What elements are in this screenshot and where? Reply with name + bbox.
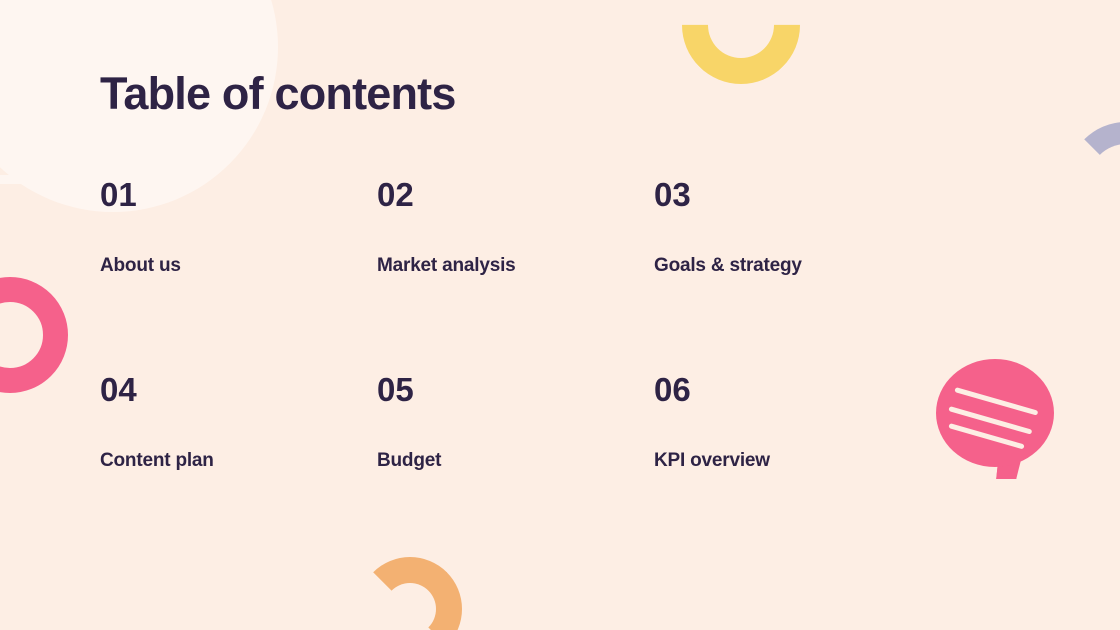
page-title: Table of contents (100, 68, 456, 120)
speech-bubble-tail (996, 445, 1025, 479)
lavender-arc-shape (1067, 122, 1120, 240)
toc-number-01: 01 (100, 178, 377, 211)
toc-item-03[interactable]: 03 Goals & strategy (654, 178, 931, 373)
streak-line-2 (0, 133, 176, 142)
presentation-slide: Table of contents 01 About us 02 Market … (0, 0, 1120, 630)
toc-item-01[interactable]: 01 About us (100, 178, 377, 373)
speech-bubble-line-1 (954, 387, 1038, 416)
toc-label-04: Content plan (100, 451, 377, 470)
toc-item-05[interactable]: 05 Budget (377, 373, 654, 470)
toc-label-06: KPI overview (654, 451, 931, 470)
toc-label-05: Budget (377, 451, 654, 470)
speech-bubble-line-2 (948, 406, 1032, 435)
toc-item-02[interactable]: 02 Market analysis (377, 178, 654, 373)
table-of-contents-grid: 01 About us 02 Market analysis 03 Goals … (100, 178, 960, 470)
toc-label-03: Goals & strategy (654, 256, 931, 275)
pink-ring-shape (0, 277, 68, 393)
toc-label-02: Market analysis (377, 256, 654, 275)
toc-number-05: 05 (377, 373, 654, 406)
toc-item-04[interactable]: 04 Content plan (100, 373, 377, 470)
toc-number-02: 02 (377, 178, 654, 211)
toc-number-04: 04 (100, 373, 377, 406)
toc-number-03: 03 (654, 178, 931, 211)
yellow-arc-shape (658, 0, 825, 108)
toc-item-06[interactable]: 06 KPI overview (654, 373, 931, 470)
orange-arc-shape (358, 557, 462, 630)
toc-number-06: 06 (654, 373, 931, 406)
toc-label-01: About us (100, 256, 377, 275)
